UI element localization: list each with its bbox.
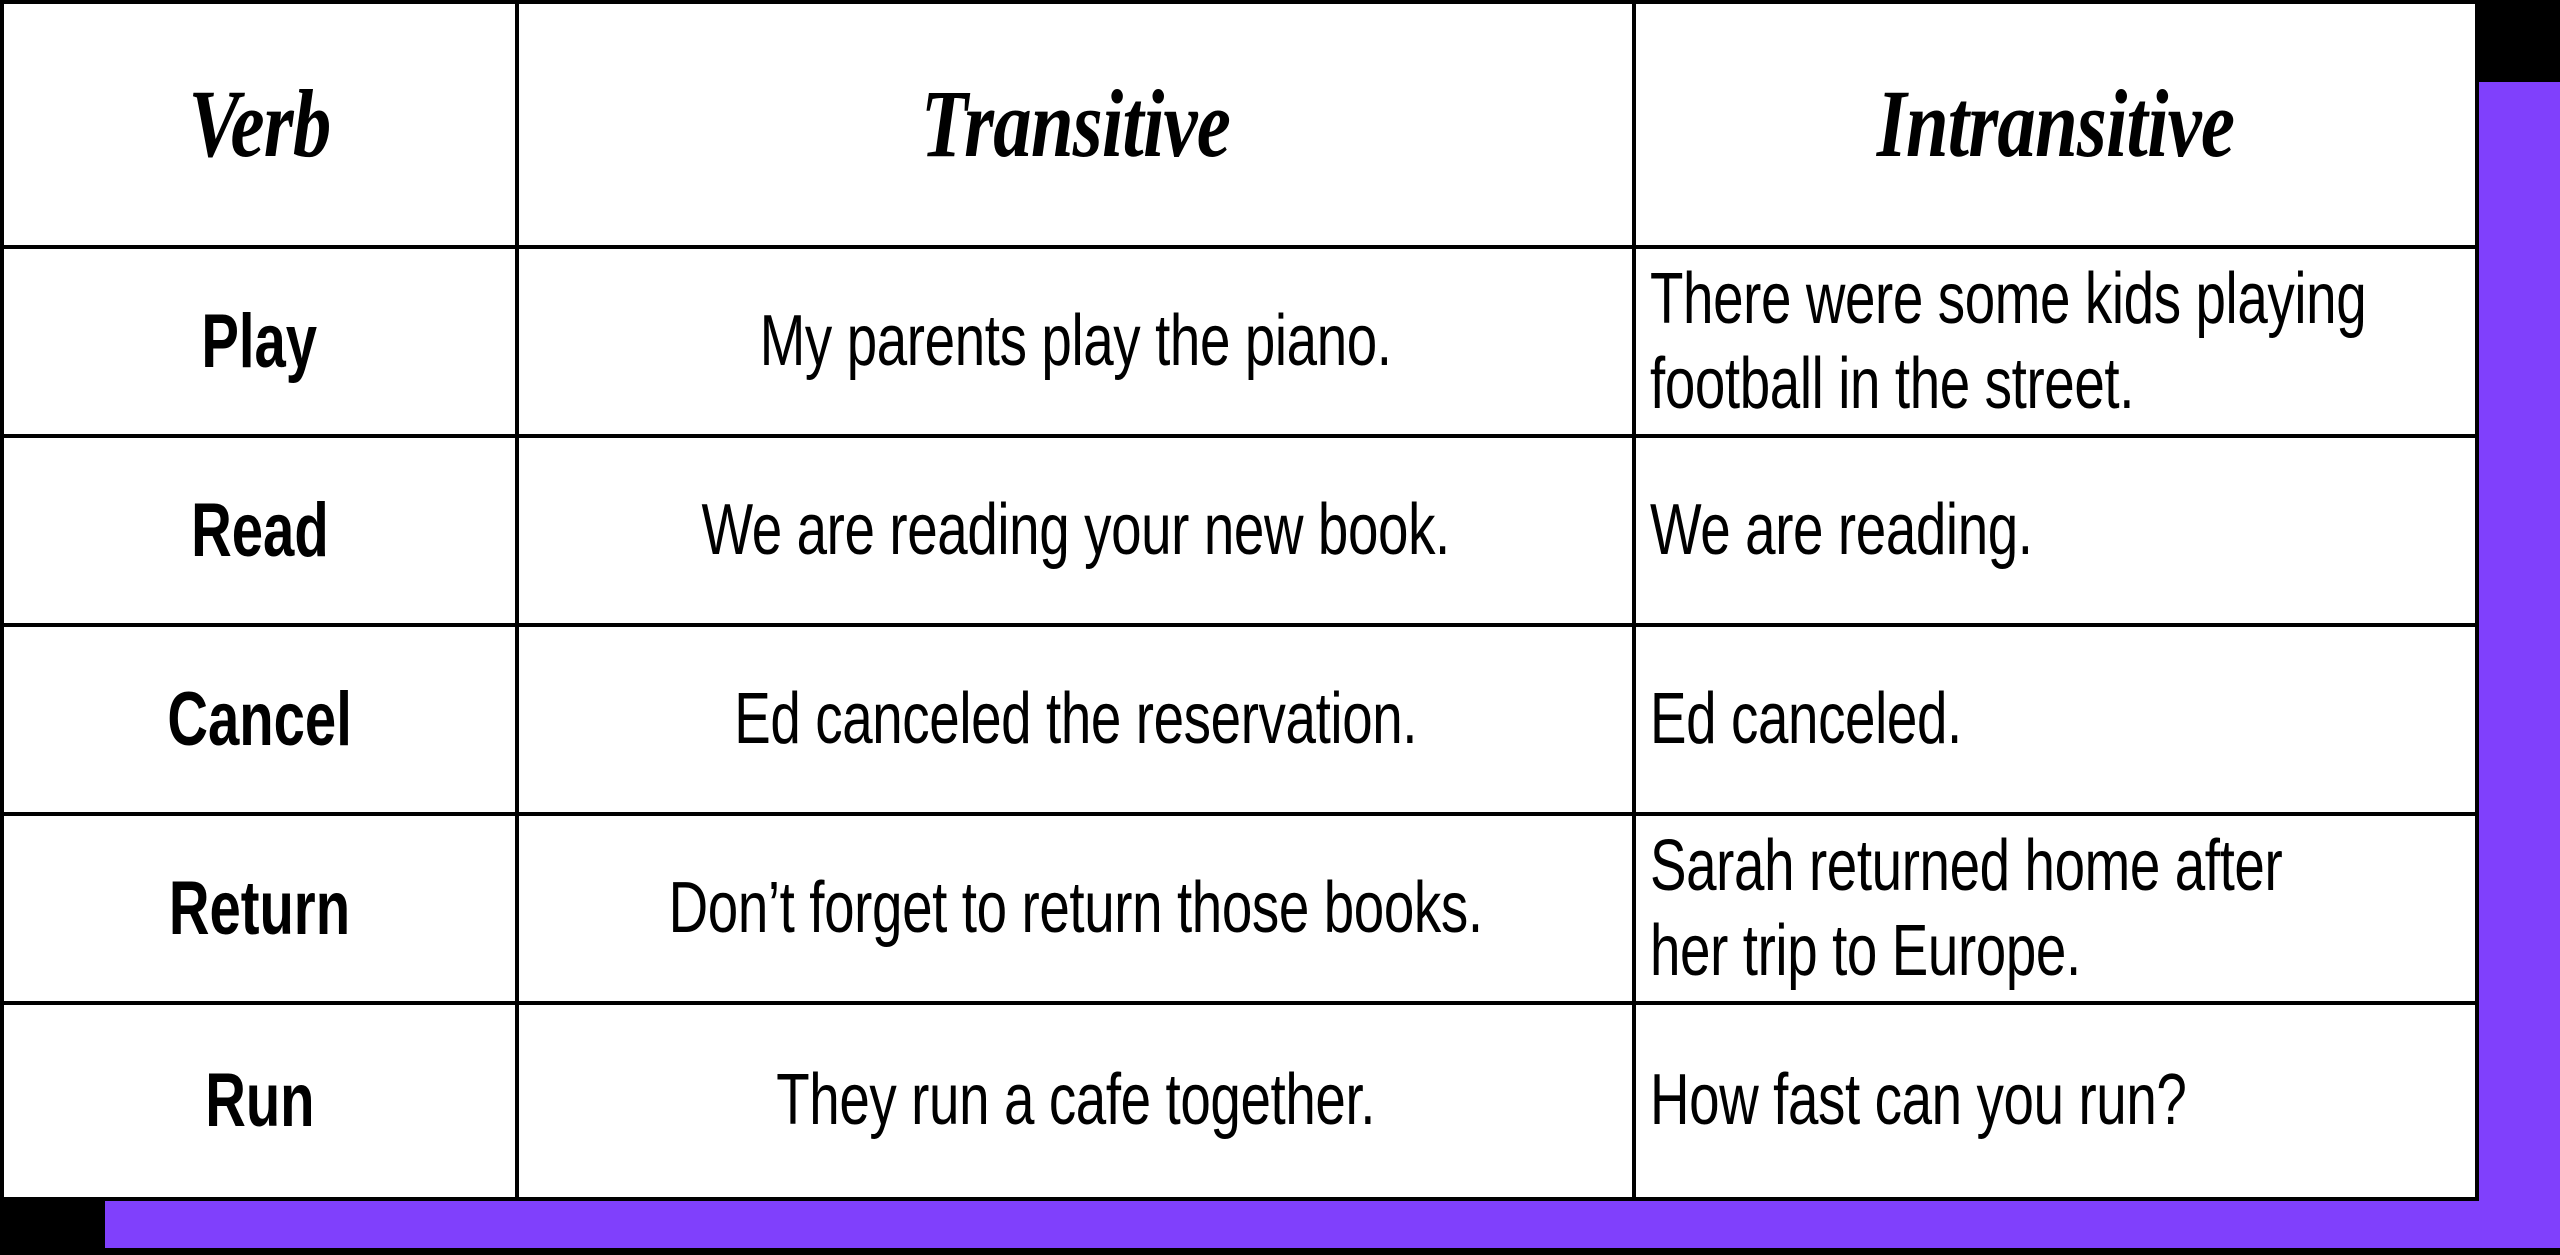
cell-verb: Cancel — [2, 625, 517, 814]
intransitive-sentence: Ed canceled. — [1650, 683, 2457, 756]
cell-intransitive: How fast can you run? — [1634, 1003, 2477, 1199]
accent-corner-black — [0, 1192, 105, 1255]
column-header-intransitive-label: Intransitive — [1877, 74, 2234, 175]
column-header-verb-label: Verb — [189, 74, 331, 175]
intransitive-sentence: How fast can you run? — [1650, 1064, 2457, 1137]
transitive-sentence: Don’t forget to return those books. — [535, 872, 1615, 945]
table-row: Cancel Ed canceled the reservation. Ed c… — [2, 625, 2477, 814]
table-row: Play My parents play the piano. There we… — [2, 247, 2477, 436]
column-header-verb: Verb — [54, 2, 466, 247]
cell-verb: Read — [2, 436, 517, 625]
verb-label: Cancel — [167, 680, 351, 760]
column-header-transitive: Transitive — [629, 2, 1523, 247]
page-canvas: Verb Transitive Intransitive Play — [0, 0, 2560, 1255]
cell-transitive: They run a cafe together. — [517, 1003, 1634, 1199]
cell-verb: Return — [2, 814, 517, 1003]
cell-transitive: My parents play the piano. — [517, 247, 1634, 436]
cell-verb: Play — [2, 247, 517, 436]
cell-transitive: We are reading your new book. — [517, 436, 1634, 625]
cell-verb: Run — [2, 1003, 517, 1199]
table-row: Return Don’t forget to return those book… — [2, 814, 2477, 1003]
verb-table-container: Verb Transitive Intransitive Play — [0, 0, 2475, 1192]
cell-intransitive: There were some kids playingfootball in … — [1634, 247, 2477, 436]
cell-intransitive: We are reading. — [1634, 436, 2477, 625]
intransitive-line-1: There were some kids playing — [1650, 259, 2366, 339]
transitive-sentence: My parents play the piano. — [535, 305, 1615, 378]
verb-label: Play — [202, 302, 318, 382]
accent-bar-right — [2478, 82, 2560, 1192]
cell-transitive: Ed canceled the reservation. — [517, 625, 1634, 814]
verb-comparison-table: Verb Transitive Intransitive Play — [0, 0, 2479, 1201]
intransitive-sentence: Sarah returned home after her trip to Eu… — [1650, 824, 2457, 994]
intransitive-sentence: We are reading. — [1650, 494, 2457, 567]
table-header: Verb Transitive Intransitive — [2, 2, 2477, 247]
intransitive-line-1: Sarah returned home after — [1650, 826, 2282, 906]
table-header-row: Verb Transitive Intransitive — [2, 2, 2477, 247]
transitive-sentence: Ed canceled the reservation. — [535, 683, 1615, 756]
cell-transitive: Don’t forget to return those books. — [517, 814, 1634, 1003]
column-header-transitive-label: Transitive — [921, 74, 1230, 175]
transitive-sentence: They run a cafe together. — [535, 1064, 1615, 1137]
transitive-sentence: We are reading your new book. — [535, 494, 1615, 567]
intransitive-sentence: There were some kids playingfootball in … — [1650, 257, 2457, 427]
verb-label: Run — [205, 1061, 314, 1141]
intransitive-line-2: football in the street. — [1650, 344, 2134, 424]
table-row: Run They run a cafe together. How fast c… — [2, 1003, 2477, 1199]
verb-label: Read — [191, 491, 329, 571]
table-body: Play My parents play the piano. There we… — [2, 247, 2477, 1199]
intransitive-line-2: her trip to Europe. — [1650, 911, 2081, 991]
table-row: Read We are reading your new book. We ar… — [2, 436, 2477, 625]
cell-intransitive: Sarah returned home after her trip to Eu… — [1634, 814, 2477, 1003]
cell-intransitive: Ed canceled. — [1634, 625, 2477, 814]
verb-label: Return — [169, 869, 350, 949]
column-header-intransitive: Intransitive — [1718, 2, 2392, 247]
